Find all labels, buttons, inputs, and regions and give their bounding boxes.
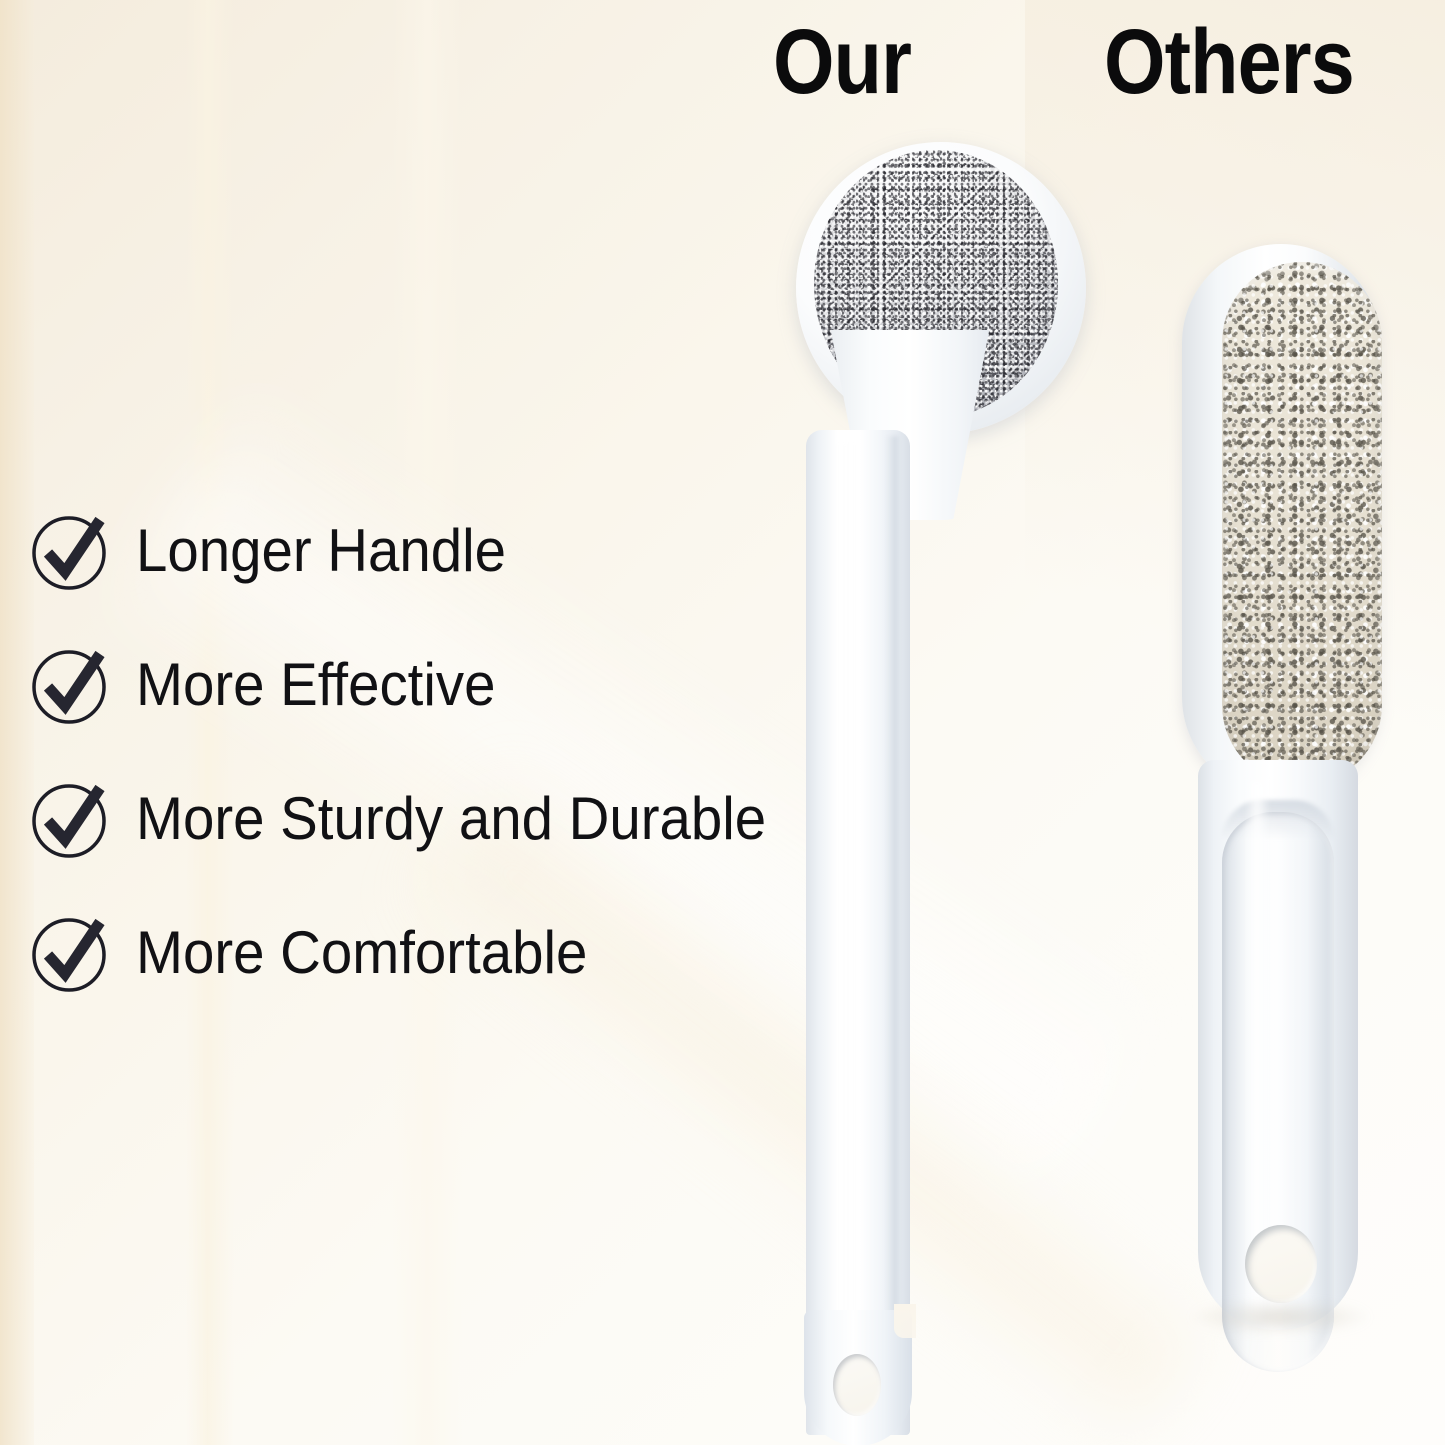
circle-check-icon xyxy=(28,508,114,594)
ours-handle-notch xyxy=(894,1304,916,1338)
feature-row: More Effective xyxy=(28,618,788,752)
ours-hang-hole xyxy=(833,1354,881,1416)
others-pumice-stone xyxy=(1222,262,1382,785)
comparison-infographic: Our Others Longer Handle More Effective xyxy=(0,0,1445,1445)
circle-check-icon xyxy=(28,910,114,996)
feature-row: Longer Handle xyxy=(28,484,788,618)
others-drop-shadow xyxy=(1190,1300,1370,1334)
others-head-frame xyxy=(1182,244,1380,796)
circle-check-icon xyxy=(28,776,114,862)
feature-label: More Effective xyxy=(136,655,495,715)
circle-check-icon xyxy=(28,642,114,728)
ours-handle-edge-shade xyxy=(886,436,898,1416)
feature-row: More Sturdy and Durable xyxy=(28,752,788,886)
column-header-others: Others xyxy=(1104,16,1354,108)
feature-label: More Sturdy and Durable xyxy=(136,789,766,849)
feature-list: Longer Handle More Effective More Sturdy… xyxy=(28,484,788,1020)
others-hang-hole xyxy=(1245,1225,1317,1303)
product-image-ours xyxy=(700,130,1060,1445)
column-header-ours: Our xyxy=(773,16,911,108)
feature-row: More Comfortable xyxy=(28,886,788,1020)
product-image-others xyxy=(1160,240,1445,1360)
feature-label: More Comfortable xyxy=(136,923,587,983)
ours-handle-highlight xyxy=(836,442,856,1402)
feature-label: Longer Handle xyxy=(136,521,506,581)
